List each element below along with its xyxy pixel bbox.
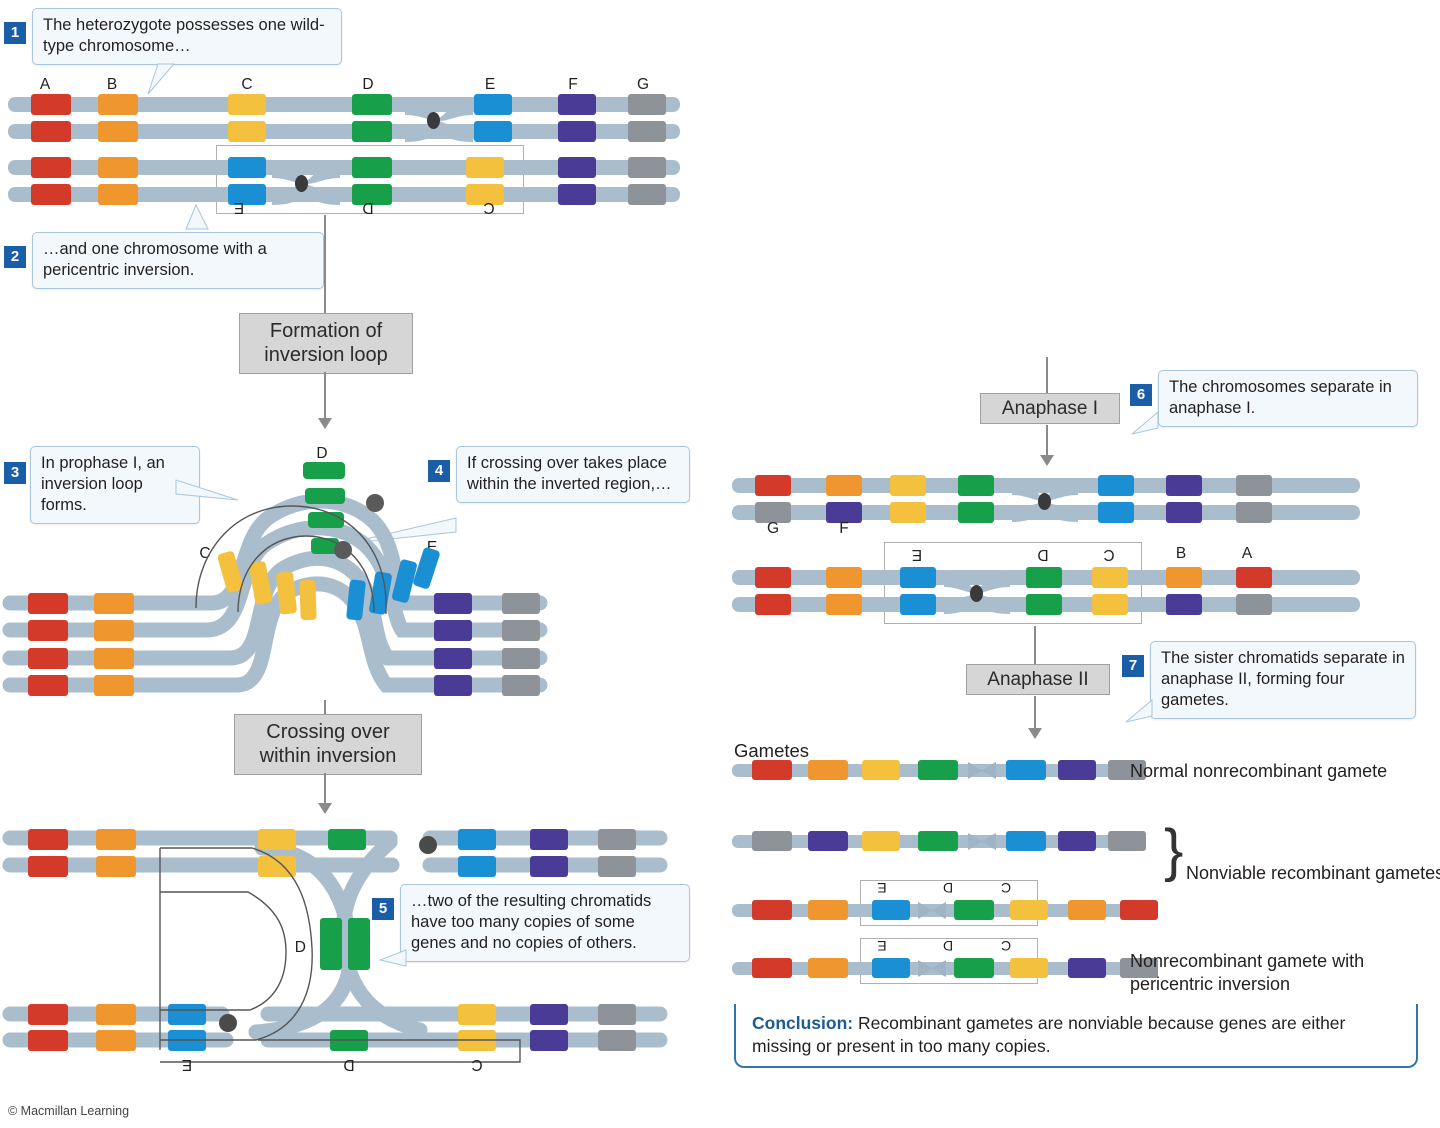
centromere-pinch-top	[405, 92, 475, 150]
gene-block-F	[558, 121, 596, 142]
loop-downline	[324, 700, 326, 714]
gene-block-F	[530, 1004, 568, 1025]
gene-block-G	[502, 593, 540, 614]
inverted-gene-label-D: D	[357, 198, 379, 216]
callout-step-1: The heterozygote possesses one wild-type…	[32, 8, 342, 65]
conclusion-text: Conclusion: Recombinant gametes are nonv…	[752, 1012, 1400, 1058]
gene-block-B	[98, 94, 138, 115]
gene-block-B	[94, 648, 134, 669]
conclusion-lead: Conclusion:	[752, 1013, 853, 1033]
anaphase2-downline	[1034, 696, 1036, 732]
gene-block-F	[808, 831, 848, 851]
gene-block-G	[628, 94, 666, 115]
gene-block-D	[918, 760, 958, 780]
gene-block-A	[28, 620, 68, 641]
gametes-heading: Gametes	[734, 740, 809, 762]
gene-block-D	[352, 157, 392, 178]
gene-label-C: C	[236, 76, 258, 94]
gamete4-inv-label-E: E	[872, 938, 892, 954]
process-box-crossing-over: Crossing over within inversion	[234, 714, 422, 775]
gene-block-D	[954, 900, 994, 920]
gene-block-D	[1026, 567, 1062, 588]
gene-block-D	[958, 502, 994, 523]
gene-block-G	[502, 648, 540, 669]
gene-block-A	[31, 94, 71, 115]
result-inverted-label-C: C	[466, 1055, 488, 1073]
gene-label-A: A	[34, 76, 56, 94]
result-inverted-label-D: D	[338, 1055, 360, 1073]
gene-block-B	[1068, 900, 1106, 920]
process-box-anaphase-ii-label: Anaphase II	[977, 668, 1099, 691]
gene-block-A	[1120, 900, 1158, 920]
inversion-loop-diagram: D C E	[0, 440, 620, 710]
gene-block-F	[558, 94, 596, 115]
gene-block-G	[598, 1030, 636, 1051]
gene-block-B	[96, 829, 136, 850]
step-badge-7: 7	[1122, 655, 1144, 677]
gene-block-G	[502, 620, 540, 641]
gene-block-D	[958, 475, 994, 496]
callout-step-5-text: …two of the resulting chromatids have to…	[411, 892, 651, 952]
gene-block-A	[31, 184, 71, 205]
anaphase2-inv-label-C: C	[1098, 545, 1120, 563]
centromere-loop-upper	[366, 494, 384, 512]
loop-gene-label-D: D	[316, 445, 327, 462]
gene-block-G	[598, 1004, 636, 1025]
inverted-gene-label-C: C	[478, 198, 500, 216]
gene-block-F	[530, 856, 568, 877]
callout-step-6: The chromosomes separate in anaphase I.	[1158, 370, 1418, 427]
gene-block-C	[228, 121, 266, 142]
callout-step-6-text: The chromosomes separate in anaphase I.	[1169, 378, 1392, 417]
step-number-7: 7	[1129, 657, 1137, 674]
arrow-to-loop-line	[324, 372, 326, 420]
centromere-bottom-homolog	[295, 175, 308, 192]
credit-line: © Macmillan Learning	[8, 1104, 129, 1118]
gene-block-B	[826, 594, 862, 615]
callout-2-tail	[186, 205, 246, 245]
gene-block-B	[808, 760, 848, 780]
gene-block-C	[890, 475, 926, 496]
anaphase2-inv-label-E: E	[906, 545, 928, 563]
gene-block-B	[94, 675, 134, 696]
centromere-loop-lower	[334, 541, 352, 559]
gene-block-F	[1166, 502, 1202, 523]
anaphase1-topline	[1046, 357, 1048, 393]
gene-block-A	[28, 829, 68, 850]
gene-block-G	[1236, 594, 1272, 615]
gene-block-F	[1068, 958, 1106, 978]
gamete-label-inversion: Nonrecombinant gamete with pericentric i…	[1130, 950, 1430, 995]
gene-block-F	[1058, 760, 1096, 780]
gene-block-E	[474, 121, 512, 142]
step-number-2: 2	[11, 248, 19, 265]
anaphase1-downline	[1046, 425, 1048, 459]
gene-block-E	[1006, 760, 1046, 780]
gene-block-B	[1166, 567, 1202, 588]
gene-block-F	[434, 593, 472, 614]
process-box-crossing-over-line2: within inversion	[247, 744, 409, 768]
gene-block-F	[434, 620, 472, 641]
gene-block-F	[558, 157, 596, 178]
anaphase2-label-A: A	[1236, 545, 1258, 563]
step-badge-2: 2	[4, 246, 26, 268]
gene-block-E	[872, 958, 910, 978]
gene-block-A	[31, 157, 71, 178]
step-badge-6: 6	[1130, 384, 1152, 406]
gene-block-B	[94, 620, 134, 641]
gene-block-A	[28, 1030, 68, 1051]
gene-block-D	[918, 831, 958, 851]
centromere-lower-result	[219, 1014, 237, 1032]
gene-block-B	[98, 121, 138, 142]
gene-block-E	[1006, 831, 1046, 851]
gamete-label-normal: Normal nonrecombinant gamete	[1130, 760, 1420, 783]
gene-block-E	[900, 567, 936, 588]
gene-block-C	[1010, 900, 1048, 920]
gamete4-inv-label-D: D	[938, 938, 958, 954]
callout-5-tail	[380, 950, 410, 976]
gene-block-D	[328, 829, 366, 850]
callout-step-2-text: …and one chromosome with a pericentric i…	[43, 240, 267, 279]
gene-block-G	[628, 184, 666, 205]
gene-block-B	[826, 475, 862, 496]
gene-block-A	[28, 1004, 68, 1025]
panel1-downline	[324, 215, 326, 313]
gene-block-E	[1098, 475, 1134, 496]
gene-block-G	[502, 675, 540, 696]
process-box-anaphase-ii: Anaphase II	[966, 664, 1110, 695]
gene-block-B	[808, 900, 848, 920]
centromere-upper-result	[419, 836, 437, 854]
gene-block-G	[1108, 831, 1146, 851]
gene-block-F	[1166, 475, 1202, 496]
gene-block-A	[755, 594, 791, 615]
gene-block-B	[96, 856, 136, 877]
gene-block-A	[755, 475, 791, 496]
gene-block-C	[466, 157, 504, 178]
process-box-anaphase-i-label: Anaphase I	[991, 397, 1109, 420]
gene-block-B	[826, 567, 862, 588]
gene-block-A	[28, 593, 68, 614]
gamete-chromosome-normal	[732, 760, 1132, 782]
process-box-anaphase-i: Anaphase I	[980, 393, 1120, 424]
gene-block-E	[168, 1004, 206, 1025]
gene-block-C	[1092, 594, 1128, 615]
anaphase2-inv-label-D: D	[1032, 545, 1054, 563]
callout-step-1-text: The heterozygote possesses one wild-type…	[43, 16, 325, 55]
callout-step-7-text: The sister chromatids separate in anapha…	[1161, 649, 1405, 709]
callout-step-7: The sister chromatids separate in anapha…	[1150, 641, 1416, 719]
gene-label-G: G	[632, 76, 654, 94]
callout-step-2: …and one chromosome with a pericentric i…	[32, 232, 324, 289]
gene-block-A	[752, 900, 792, 920]
gamete4-inv-label-C: C	[996, 938, 1016, 954]
nonviable-group-brace: }	[1164, 822, 1183, 880]
gene-block-E	[474, 94, 512, 115]
anaphase2-topline	[1034, 626, 1036, 664]
gene-block-B	[98, 184, 138, 205]
arrow-to-cross-line	[324, 773, 326, 805]
gene-block-D	[1026, 594, 1062, 615]
gene-block-C	[258, 829, 296, 850]
gene-block-G	[752, 831, 792, 851]
result-inverted-label-E: E	[176, 1055, 198, 1073]
centromere-anaphase1	[1038, 493, 1051, 510]
gene-block-G	[1236, 475, 1272, 496]
process-box-inversion-loop-line2: inversion loop	[252, 343, 400, 367]
centromere-top-homolog	[427, 112, 440, 129]
gene-block-F	[530, 1030, 568, 1051]
gene-block-F	[434, 648, 472, 669]
gamete-label-nonviable-group: Nonviable recombinant gametes	[1186, 862, 1440, 885]
gene-block-G	[628, 157, 666, 178]
gene-block-C	[862, 760, 900, 780]
gene-block-B	[98, 157, 138, 178]
gamete-chromosome-inversion	[732, 958, 1132, 980]
gene-block-G	[628, 121, 666, 142]
gene-block-E	[458, 856, 496, 877]
gene-block-A	[28, 675, 68, 696]
gene-block-F	[558, 184, 596, 205]
gene-block-A	[28, 648, 68, 669]
callout-step-5: …two of the resulting chromatids have to…	[400, 884, 690, 962]
gene-block-E	[458, 829, 496, 850]
gene-block-D	[352, 121, 392, 142]
gene-block-F	[434, 675, 472, 696]
gene-block-A	[28, 856, 68, 877]
gene-block-B	[94, 593, 134, 614]
gene-block-B	[96, 1030, 136, 1051]
callout-7-tail	[1122, 700, 1152, 726]
gene-block-A	[752, 958, 792, 978]
arrow-to-cross-head	[318, 803, 332, 814]
gene-block-C	[1010, 958, 1048, 978]
gamete3-inv-label-C: C	[996, 880, 1016, 896]
gene-block-C	[890, 502, 926, 523]
gene-block-E	[1098, 502, 1134, 523]
callout-6-tail	[1128, 412, 1158, 438]
step-badge-5: 5	[372, 898, 394, 920]
step-number-6: 6	[1137, 386, 1145, 403]
gene-block-C	[458, 1004, 496, 1025]
centromere-anaphase2	[970, 585, 983, 602]
anaphase2-arrowhead	[1028, 728, 1042, 739]
gene-block-F	[530, 829, 568, 850]
gene-block-G	[598, 829, 636, 850]
gene-block-G	[1236, 502, 1272, 523]
gene-block-C	[1092, 567, 1128, 588]
gene-block-C	[862, 831, 900, 851]
gene-block-A	[1236, 567, 1272, 588]
gene-block-D	[320, 918, 342, 970]
step-number-1: 1	[11, 24, 19, 41]
gamete-chromosome-recombinant-2	[732, 900, 1132, 922]
gene-block-E	[228, 157, 266, 178]
anaphase2-label-B: B	[1170, 545, 1192, 563]
gene-block-A	[752, 760, 792, 780]
gene-block-E	[900, 594, 936, 615]
gene-block-A	[755, 567, 791, 588]
gene-block-F	[1166, 594, 1202, 615]
step-badge-1: 1	[4, 22, 26, 44]
gene-label-F: F	[562, 76, 584, 94]
gene-block-G	[598, 856, 636, 877]
gene-block-D	[348, 918, 370, 970]
gamete3-inv-label-D: D	[938, 880, 958, 896]
gene-block-F	[1058, 831, 1096, 851]
gene-label-D: D	[357, 76, 379, 94]
gene-block-B	[808, 958, 848, 978]
gene-block-D	[954, 958, 994, 978]
gene-block-E	[872, 900, 910, 920]
process-box-inversion-loop-line1: Formation of	[252, 319, 400, 343]
anaphase1-label-G: G	[762, 520, 784, 538]
anaphase1-label-F: F	[833, 520, 855, 538]
gene-block-A	[31, 121, 71, 142]
gene-label-B: B	[101, 76, 123, 94]
process-box-inversion-loop: Formation of inversion loop	[239, 313, 413, 374]
gene-block-B	[96, 1004, 136, 1025]
arrow-to-loop-head	[318, 418, 332, 429]
gamete-chromosome-recombinant-1	[732, 831, 1132, 853]
gene-block-D	[352, 94, 392, 115]
process-box-crossing-over-line1: Crossing over	[247, 720, 409, 744]
gene-block-C	[228, 94, 266, 115]
result-gene-label-D: D	[295, 939, 306, 956]
anaphase1-arrowhead	[1040, 455, 1054, 466]
gene-label-E: E	[479, 76, 501, 94]
step-number-5: 5	[379, 900, 387, 917]
gamete3-inv-label-E: E	[872, 880, 892, 896]
